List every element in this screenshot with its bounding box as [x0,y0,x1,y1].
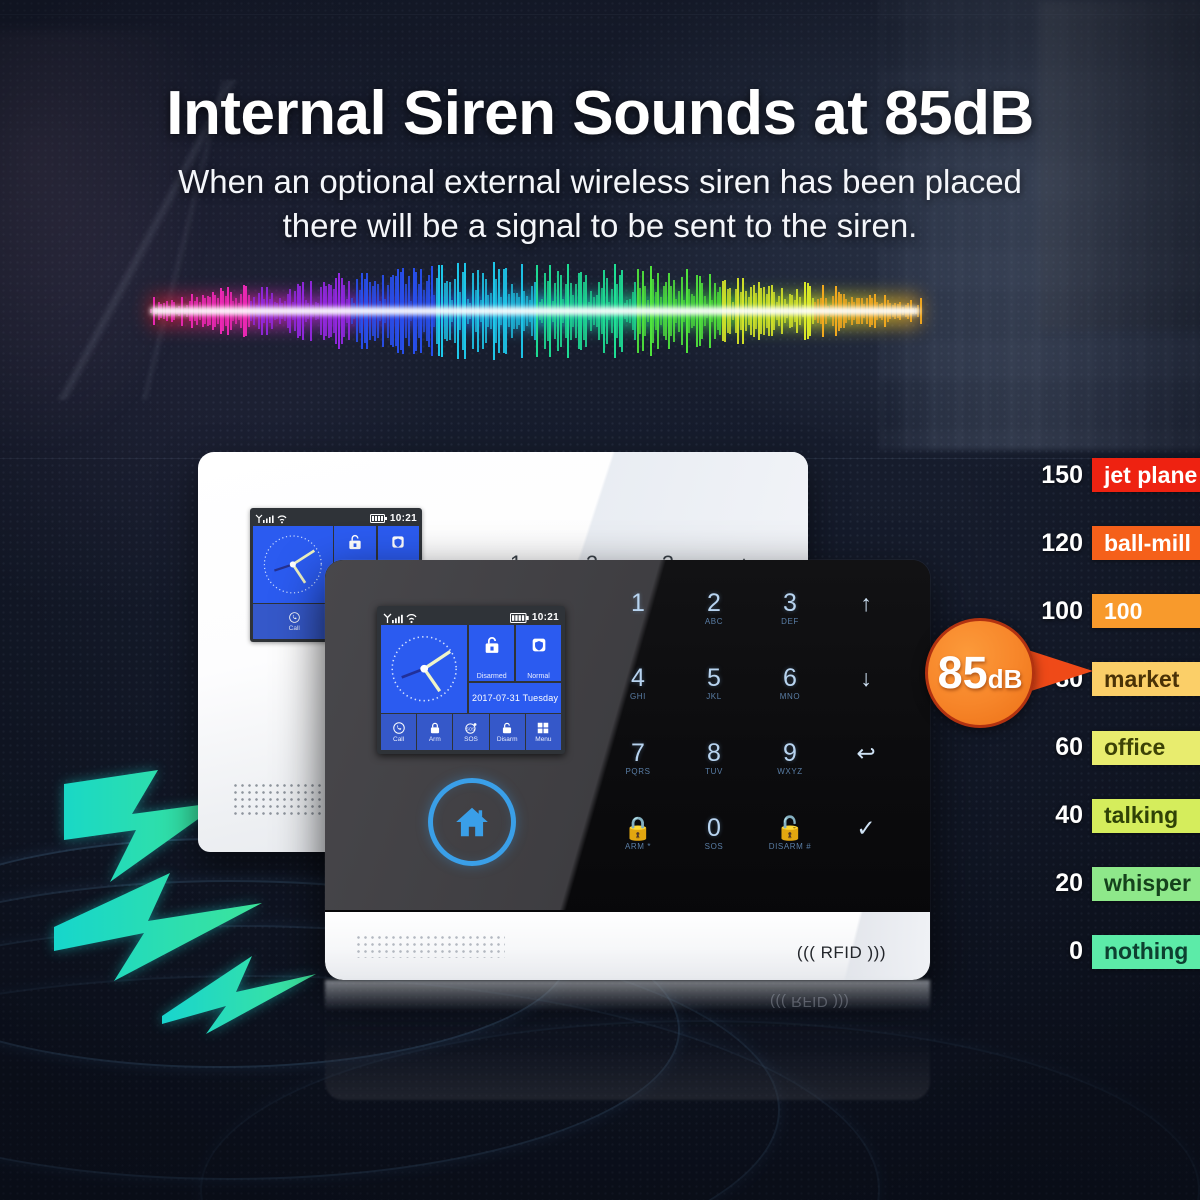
db-bar-market: market [1092,662,1200,696]
key-sublabel: TUV [679,766,749,777]
display-status-bar: 10:21 [253,511,419,526]
unlock-icon [482,636,501,655]
arrow-down-icon: ↓ [831,665,901,691]
key-number: 4 [603,665,673,691]
sos-icon: SOS [464,721,478,735]
display-clock: 10:21 [532,612,559,623]
check-icon: ✓ [831,815,901,841]
lock-icon: 🔒 [603,815,673,841]
grid-icon [536,721,550,735]
status-tile-disarmed[interactable]: Disarmed [469,625,514,681]
db-bar-whisper: whisper [1092,867,1200,901]
keypad-key-4[interactable]: 4GHI [603,665,673,702]
button-label: SOS [464,736,478,743]
keypad-key-arrow-up[interactable]: ↑ [831,590,901,616]
clock-widget-tile[interactable] [253,526,333,603]
rfid-label: ((( RFID ))) [797,943,886,963]
key-sublabel: ABC [679,616,749,627]
svg-text:SOS: SOS [466,726,475,731]
keypad-key-check[interactable]: ✓ [831,815,901,841]
db-bar-100: 100 [1092,594,1200,628]
battery-icon [510,613,529,623]
key-number: 9 [755,740,825,766]
keypad-key-6[interactable]: 6MNO [755,665,825,702]
display-button-disarm[interactable]: Disarm [490,714,525,750]
db-tick-label: 20 [1040,869,1092,898]
display-status-bar: 10:21 [381,610,561,625]
signal-bars-icon [383,612,427,624]
badge-circle: 85dB [925,618,1035,728]
key-number: 2 [679,590,749,616]
badge-85db: 85dB [925,613,1095,731]
shield-check-icon [390,534,407,551]
keypad-key-1[interactable]: 1 [603,590,673,616]
display-surface: 10:21 [381,610,561,750]
badge-unit: dB [988,664,1023,694]
key-sublabel: DEF [755,616,825,627]
key-sublabel: GHI [603,691,673,702]
keypad-key-9[interactable]: 9WXYZ [755,740,825,777]
rfid-reflection: ((( RFID ))) [770,993,849,1010]
display-tiles: Disarmed Normal 2017-07-31 Tuesday [381,625,561,750]
phone-icon [288,611,301,624]
display-button-bar: Call Arm SOS [381,714,561,750]
keypad-key-0[interactable]: 0SOS [679,815,749,852]
key-number: 8 [679,740,749,766]
keypad-key-5[interactable]: 5JKL [679,665,749,702]
badge-value: 85 [938,647,988,698]
lightning-bolt-icon [160,930,350,1040]
db-scale-row: 20whisper [1040,866,1200,902]
key-number: 3 [755,590,825,616]
key-number: 5 [679,665,749,691]
key-sublabel: WXYZ [755,766,825,777]
button-label: Disarm [497,736,518,743]
keypad-key-arrow-down[interactable]: ↓ [831,665,901,691]
clock-widget-tile[interactable] [381,625,467,713]
db-tick-label: 120 [1040,529,1092,558]
home-icon [453,803,491,841]
db-tick-label: 0 [1040,937,1092,966]
analog-clock-icon [381,625,467,713]
date-label: 2017-07-31 Tuesday [472,693,558,703]
tile-label: Normal [516,673,561,680]
signal-bars-icon [255,513,295,524]
key-number: 6 [755,665,825,691]
keypad-key-7[interactable]: 7PQRS [603,740,673,777]
db-tick-label: 60 [1040,733,1092,762]
keypad-key-unlock[interactable]: 🔓DISARM # [755,815,825,852]
shield-check-icon [529,636,548,655]
status-tile-normal[interactable]: Normal [516,625,561,681]
keypad-key-back[interactable]: ↩ [831,740,901,766]
unlock-icon [347,534,364,551]
page-subtitle-line-2: there will be a signal to be sent to the… [0,204,1200,248]
key-sublabel: SOS [679,841,749,852]
unlock-icon: 🔓 [755,815,825,841]
badge-text: 85dB [938,647,1023,699]
db-bar-talking: talking [1092,799,1200,833]
unlock-icon [500,721,514,735]
waveform-spike [920,298,922,325]
lock-icon [428,721,442,735]
key-sublabel: JKL [679,691,749,702]
key-sublabel: ARM * [603,841,673,852]
keypad-key-3[interactable]: 3DEF [755,590,825,627]
display-button-call[interactable]: Call [381,714,416,750]
button-label: Menu [535,736,551,743]
waveform-center-line [150,307,920,315]
db-scale-row: 150jet plane [1040,457,1200,493]
poster-canvas: Internal Siren Sounds at 85dB When an op… [0,0,1200,1200]
display-clock: 10:21 [390,513,417,524]
page-subtitle-line-1: When an optional external wireless siren… [0,160,1200,204]
key-number: 0 [679,815,749,841]
db-bar-ball-mill: ball-mill [1092,526,1200,560]
home-button[interactable] [428,778,516,866]
display-button-arm[interactable]: Arm [417,714,452,750]
display-button-sos[interactable]: SOS SOS [453,714,488,750]
keypad-key-2[interactable]: 2ABC [679,590,749,627]
button-label: Call [393,736,404,743]
analog-clock-icon [253,526,333,603]
key-number: 1 [603,590,673,616]
black-panel-display: 10:21 [377,606,565,754]
alarm-panel-black: 10:21 [325,560,930,980]
key-number: 7 [603,740,673,766]
db-tick-label: 150 [1040,461,1092,490]
phone-icon [392,721,406,735]
back-icon: ↩ [831,740,901,766]
page-title: Internal Siren Sounds at 85dB [0,78,1200,149]
keypad-key-8[interactable]: 8TUV [679,740,749,777]
key-sublabel: MNO [755,691,825,702]
button-label: Call [289,625,300,632]
db-bar-office: office [1092,731,1200,765]
db-tick-label: 40 [1040,801,1092,830]
display-button-call[interactable]: Call [253,604,336,639]
battery-icon [370,514,387,523]
black-panel-keypad: 12ABC3DEF↑4GHI5JKL6MNO↓7PQRS8TUV9WXYZ↩🔒A… [603,590,903,880]
button-label: Arm [429,736,441,743]
key-sublabel: PQRS [603,766,673,777]
db-bar-jet-plane: jet plane [1092,458,1200,492]
keypad-key-lock[interactable]: 🔒ARM * [603,815,673,852]
key-sublabel: DISARM # [755,841,825,852]
tile-label: Disarmed [469,673,514,680]
audio-waveform [150,258,920,364]
db-bar-nothing: nothing [1092,935,1200,969]
db-scale-row: 120ball-mill [1040,525,1200,561]
arrow-up-icon: ↑ [831,590,901,616]
speaker-grille [355,934,505,958]
db-scale-row: 0nothing [1040,934,1200,970]
db-scale-row: 60office [1040,730,1200,766]
display-button-menu[interactable]: Menu [526,714,561,750]
date-tile[interactable]: 2017-07-31 Tuesday [469,683,561,713]
db-scale-row: 40talking [1040,798,1200,834]
